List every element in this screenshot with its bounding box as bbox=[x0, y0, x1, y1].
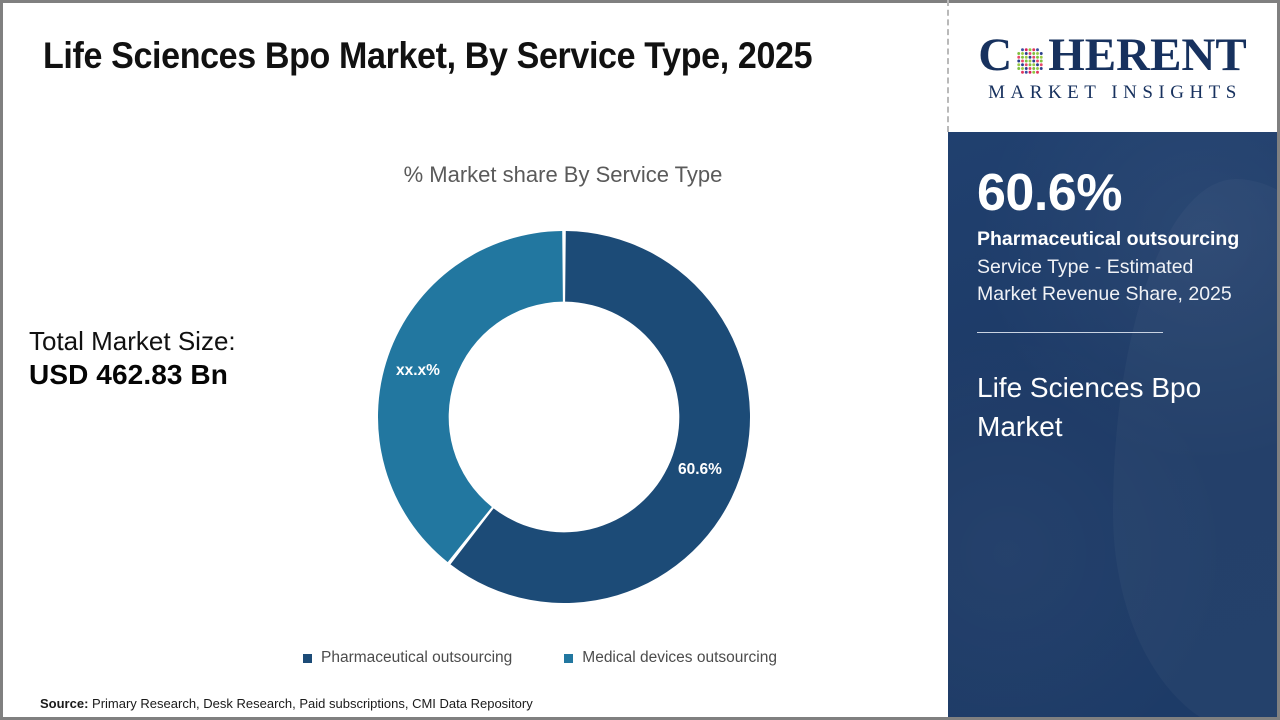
highlight-description: Pharmaceutical outsourcing Service Type … bbox=[977, 226, 1248, 309]
donut-label-medical-devices-outsourcing: xx.x% bbox=[396, 362, 440, 380]
chart-subtitle: % Market share By Service Type bbox=[283, 162, 843, 188]
donut-slice bbox=[378, 231, 563, 562]
page-title: Life Sciences Bpo Market, By Service Typ… bbox=[43, 35, 853, 77]
brand-logo: C HERENT MARKET INSIGHTS bbox=[948, 0, 1280, 132]
highlight-description-rest: Service Type - Estimated Market Revenue … bbox=[977, 256, 1232, 306]
legend-swatch-icon bbox=[303, 654, 312, 663]
globe-icon bbox=[1013, 40, 1047, 74]
infographic-canvas: Life Sciences Bpo Market, By Service Typ… bbox=[0, 0, 1280, 720]
source-text: Primary Research, Desk Research, Paid su… bbox=[92, 696, 533, 711]
legend-item[interactable]: Medical devices outsourcing bbox=[564, 649, 777, 667]
donut-label-pharmaceutical-outsourcing: 60.6% bbox=[678, 461, 722, 479]
legend-item[interactable]: Pharmaceutical outsourcing bbox=[303, 649, 512, 667]
total-market-size-value: USD 462.83 Bn bbox=[29, 358, 319, 392]
dashed-divider bbox=[947, 0, 949, 132]
donut-chart-svg bbox=[378, 231, 750, 603]
total-market-size-label: Total Market Size: bbox=[29, 326, 319, 358]
highlight-percent: 60.6% bbox=[977, 167, 1248, 220]
legend-label: Pharmaceutical outsourcing bbox=[321, 649, 512, 667]
right-column: C HERENT MARKET INSIGHTS 60.6% Pharmaceu… bbox=[948, 0, 1280, 720]
legend-label: Medical devices outsourcing bbox=[582, 649, 777, 667]
highlight-description-lead: Pharmaceutical outsourcing bbox=[977, 228, 1239, 250]
chart-legend: Pharmaceutical outsourcingMedical device… bbox=[303, 649, 843, 667]
donut-chart: 60.6% xx.x% bbox=[378, 231, 750, 603]
divider-rule bbox=[977, 332, 1163, 333]
legend-swatch-icon bbox=[564, 654, 573, 663]
market-name: Life Sciences Bpo Market bbox=[977, 369, 1248, 446]
source-label: Source: bbox=[40, 696, 88, 711]
logo-tagline: MARKET INSIGHTS bbox=[983, 82, 1242, 104]
highlight-panel: 60.6% Pharmaceutical outsourcing Service… bbox=[948, 132, 1280, 720]
chart-card: Life Sciences Bpo Market, By Service Typ… bbox=[0, 0, 948, 720]
logo-wordmark-rest: HERENT bbox=[1048, 32, 1247, 79]
logo-wordmark: C HERENT bbox=[978, 32, 1246, 79]
source-note: Source: Primary Research, Desk Research,… bbox=[40, 696, 533, 711]
total-market-size: Total Market Size: USD 462.83 Bn bbox=[29, 326, 319, 392]
logo-letter-c: C bbox=[978, 32, 1012, 79]
